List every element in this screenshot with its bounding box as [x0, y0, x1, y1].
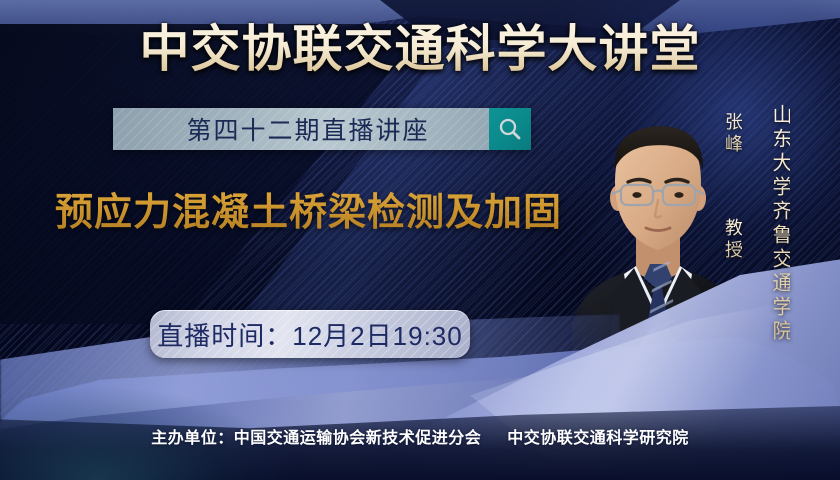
- speaker-title: 教授: [724, 218, 742, 262]
- lecture-topic: 预应力混凝土桥梁检测及加固: [55, 188, 575, 238]
- speaker-name: 张峰: [724, 112, 742, 156]
- search-icon: [489, 108, 531, 150]
- webinar-poster: 中交协联交通科学大讲堂 第四十二期直播讲座 预应力混凝土桥梁检测及加固 直播时间…: [0, 0, 840, 480]
- speaker-affiliation: 山东大学齐鲁交通学院: [770, 104, 790, 344]
- episode-label: 第四十二期直播讲座: [113, 108, 489, 150]
- footer-organizers: 主办单位：中国交通运输协会新技术促进分会中交协联交通科学研究院: [0, 424, 840, 448]
- episode-banner: 第四十二期直播讲座: [113, 108, 531, 150]
- footer-prefix: 主办单位：: [151, 430, 234, 447]
- live-time-badge: 直播时间：12月2日19:30: [150, 310, 470, 358]
- page-title: 中交协联交通科学大讲堂: [0, 18, 840, 80]
- footer-organizer-primary: 中国交通运输协会新技术促进分会: [234, 430, 482, 447]
- footer-organizer-secondary: 中交协联交通科学研究院: [507, 430, 689, 447]
